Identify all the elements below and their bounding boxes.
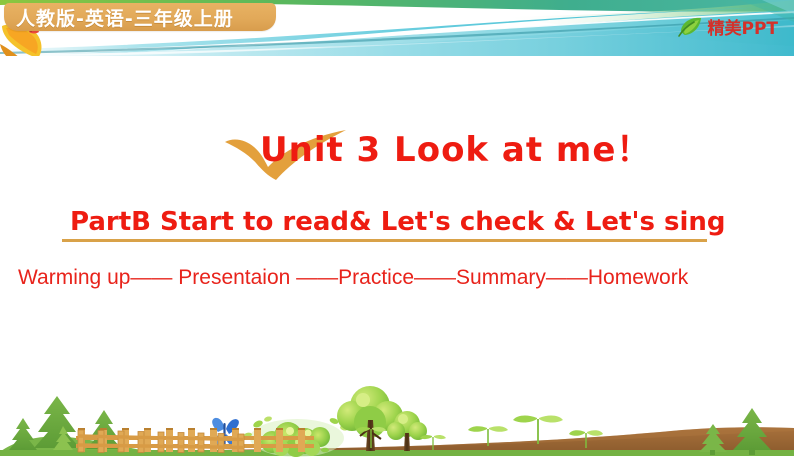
brand-logo: 精美PPT	[678, 14, 778, 39]
leaf-bird-icon	[678, 16, 704, 38]
subtitle-block: PartB Start to read& Let's check & Let's…	[70, 206, 730, 238]
course-tag-label: 人教版-英语-三年级上册	[4, 4, 234, 31]
footer-scene	[0, 376, 794, 458]
header-banner: 人教版-英语-三年级上册 精美PPT	[0, 0, 794, 56]
lesson-flow-nav: Warming up—— Presentaion ——Practice——Sum…	[18, 264, 778, 292]
page-title: Unit 3 Look at me！	[260, 128, 651, 172]
slide-canvas: 人教版-英语-三年级上册 精美PPT Unit 3 Look at me！ Pa…	[0, 0, 794, 458]
subtitle-underline	[62, 239, 707, 242]
fence-overlay	[0, 376, 794, 458]
main-title-block: Unit 3 Look at me！	[232, 128, 652, 176]
subtitle: PartB Start to read& Let's check & Let's…	[70, 206, 730, 238]
course-tag: 人教版-英语-三年级上册	[4, 3, 276, 31]
brand-text: 精美PPT	[707, 14, 778, 39]
fence-icon	[78, 430, 244, 453]
